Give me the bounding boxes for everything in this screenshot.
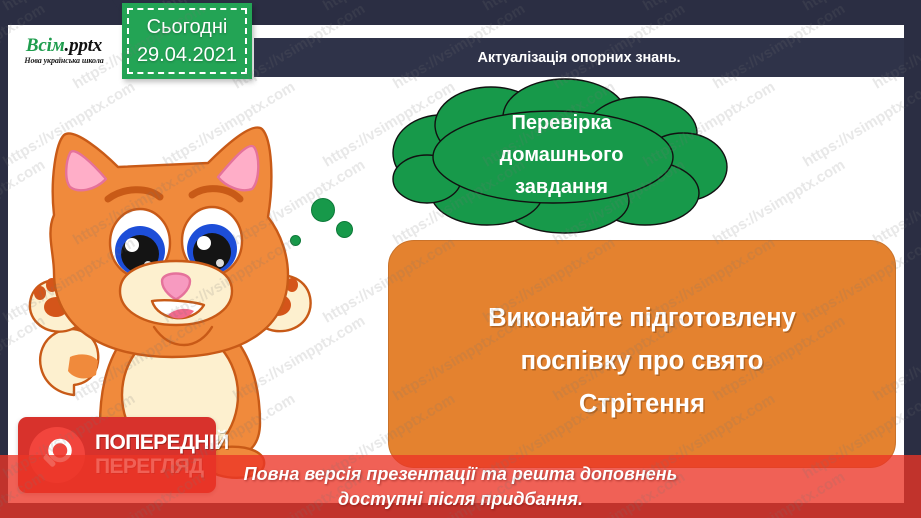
task-line-3: Стрітення <box>579 390 705 418</box>
watermark-text: https://vsimpptx.com <box>640 0 778 15</box>
task-text-block: Виконайте підготовлену поспівку про свят… <box>488 297 796 426</box>
today-label: Сьогодні <box>147 13 228 41</box>
purchase-notice-bar: Повна версія презентації та решта доповн… <box>0 455 921 518</box>
cloud-text-block: Перевірка домашнього завдання <box>383 75 728 235</box>
brand-logo-main: Всім.pptx <box>26 36 102 56</box>
brand-logo: Всім.pptx Нова українська школа <box>8 25 120 77</box>
task-line-2: поспівку про свято <box>521 347 764 375</box>
presentation-slide: Всім.pptx Нова українська школа Сьогодні… <box>0 0 921 518</box>
brand-logo-prefix: Всім <box>26 35 65 56</box>
watermark-text: https://vsimpptx.com <box>480 0 618 15</box>
today-date-tag: Сьогодні 29.04.2021 <box>122 3 252 79</box>
purchase-notice-text: Повна версія презентації та решта доповн… <box>244 462 678 512</box>
thought-bubble-medium <box>336 221 353 238</box>
task-line-1: Виконайте підготовлену <box>488 304 796 332</box>
brand-logo-suffix: .pptx <box>65 35 103 56</box>
purchase-notice-line-2: доступні після придбання. <box>338 489 583 509</box>
today-date: 29.04.2021 <box>137 41 237 69</box>
watermark-text: https://vsimpptx.com <box>320 0 458 15</box>
task-panel: Виконайте підготовлену поспівку про свят… <box>388 240 896 468</box>
slide-title: Актуалізація опорних знань. <box>477 50 680 66</box>
purchase-notice-line-1: Повна версія презентації та решта доповн… <box>244 464 678 484</box>
brand-logo-subtitle: Нова українська школа <box>24 56 103 66</box>
cloud-line-2: домашнього <box>500 139 624 171</box>
preview-badge-line-1: ПОПЕРЕДНІЙ <box>95 431 229 455</box>
watermark-text: https://vsimpptx.com <box>800 0 921 15</box>
thought-cloud: Перевірка домашнього завдання <box>383 75 728 235</box>
cloud-line-3: завдання <box>515 171 608 203</box>
cloud-line-1: Перевірка <box>511 107 611 139</box>
slide-header-bar: Актуалізація опорних знань. <box>254 38 904 77</box>
